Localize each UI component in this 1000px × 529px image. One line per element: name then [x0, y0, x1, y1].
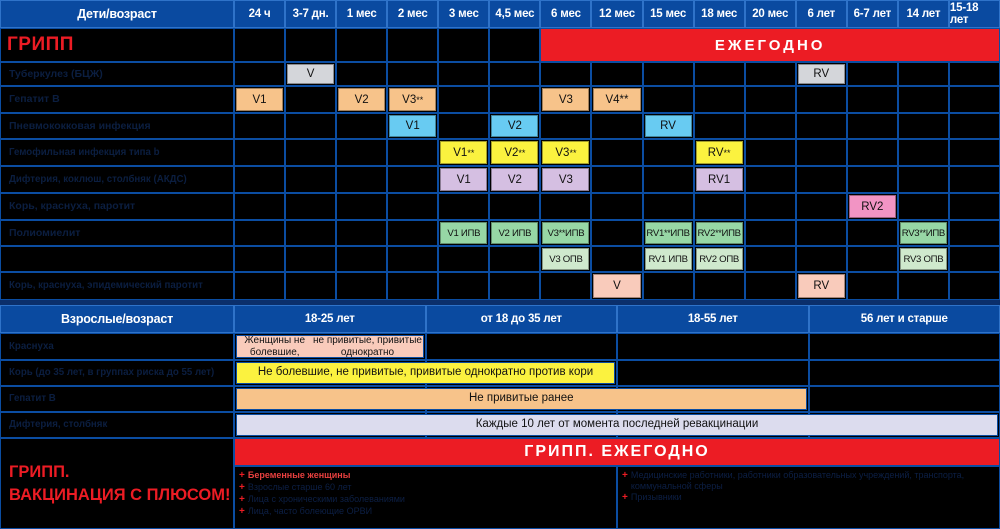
adults-cell-1-2 [617, 360, 809, 386]
vaccine-chip-3-0[interactable]: V1** [440, 141, 487, 164]
children-cell-3-1 [285, 139, 336, 166]
vaccine-chip-1-2[interactable]: V3** [389, 88, 436, 111]
flu-empty-cell-0 [234, 28, 285, 62]
children-cell-3-12 [847, 139, 898, 166]
plus-icon: + [622, 470, 628, 481]
vaccine-chip-3-3[interactable]: RV** [696, 141, 743, 164]
children-row-label-3: Гемофильная инфекция типа b [0, 139, 234, 166]
children-cell-4-7 [591, 166, 642, 193]
vaccine-chip-4-3[interactable]: RV1 [696, 168, 743, 191]
children-row-label-5: Корь, краснуха, паротит [0, 193, 234, 220]
children-cell-7-11 [796, 246, 847, 272]
children-age-header-14: 15-18 лет [949, 0, 1000, 28]
children-cell-8-6 [540, 272, 591, 300]
children-cell-0-6 [540, 62, 591, 86]
flu-empty-cell-3 [387, 28, 438, 62]
vaccine-chip-6-5[interactable]: RV3**ИПВ [900, 222, 947, 244]
adults-age-header-3: 56 лет и старше [809, 305, 1000, 333]
children-cell-4-3 [387, 166, 438, 193]
adults-cell-2-3 [809, 386, 1000, 412]
children-cell-7-4 [438, 246, 489, 272]
children-cell-4-1 [285, 166, 336, 193]
children-cell-5-9 [694, 193, 745, 220]
children-cell-8-12 [847, 272, 898, 300]
children-cell-2-2 [336, 113, 387, 139]
children-cell-0-3 [387, 62, 438, 86]
children-row-label-6: Полиомиелит [0, 220, 234, 246]
flu-note-text-0-0: Беременные женщины [248, 470, 351, 481]
vaccine-chip-1-4[interactable]: V4** [593, 88, 640, 111]
children-cell-0-13 [898, 62, 949, 86]
children-age-header-4: 3 мес [438, 0, 489, 28]
children-cell-5-13 [898, 193, 949, 220]
children-cell-6-7 [591, 220, 642, 246]
children-cell-2-6 [540, 113, 591, 139]
flu-note-text-1-1: Призывники [631, 492, 682, 503]
children-cell-0-10 [745, 62, 796, 86]
flu-note-text-0-3: Лица, часто болеющие ОРВИ [248, 506, 372, 517]
children-age-header-2: 1 мес [336, 0, 387, 28]
children-cell-0-9 [694, 62, 745, 86]
children-cell-8-2 [336, 272, 387, 300]
flu-note-1-0: +Медицинские работники, работники образо… [622, 470, 995, 491]
flu-annual-band-bottom: ГРИПП. ЕЖЕГОДНО [234, 438, 1000, 466]
children-cell-5-10 [745, 193, 796, 220]
children-cell-3-11 [796, 139, 847, 166]
flu-note-1-1: +Призывники [622, 492, 995, 503]
flu-note-0-3: +Лица, часто болеющие ОРВИ [239, 506, 612, 517]
vaccine-chip-0-1[interactable]: RV [798, 64, 845, 84]
children-cell-5-2 [336, 193, 387, 220]
flu-note-0-2: +Лица с хроническими заболеваниями [239, 494, 612, 505]
children-cell-8-9 [694, 272, 745, 300]
children-cell-6-10 [745, 220, 796, 246]
vaccine-chip-3-1[interactable]: V2** [491, 141, 538, 164]
children-cell-8-4 [438, 272, 489, 300]
children-cell-6-12 [847, 220, 898, 246]
vaccine-chip-1-1[interactable]: V2 [338, 88, 385, 111]
children-cell-2-12 [847, 113, 898, 139]
children-cell-3-0 [234, 139, 285, 166]
flu-note-0-1: +Взрослые старше 60 лет [239, 482, 612, 493]
adults-cell-0-2 [617, 333, 809, 360]
children-cell-2-14 [949, 113, 1000, 139]
children-cell-3-3 [387, 139, 438, 166]
children-cell-4-12 [847, 166, 898, 193]
children-cell-8-3 [387, 272, 438, 300]
children-cell-0-4 [438, 62, 489, 86]
children-cell-5-4 [438, 193, 489, 220]
adults-row-label-3: Дифтерия, столбняк [0, 412, 234, 438]
children-cell-0-7 [591, 62, 642, 86]
vaccine-chip-8-0[interactable]: V [593, 274, 640, 298]
plus-icon: + [239, 494, 245, 505]
children-cell-6-2 [336, 220, 387, 246]
children-row-label-2: Пневмококковая инфекция [0, 113, 234, 139]
children-row-label-8: Корь, краснуха, эпидемический паротит [0, 272, 234, 300]
vaccine-chip-6-3[interactable]: RV1**ИПВ [645, 222, 692, 244]
vaccine-chip-2-2[interactable]: RV [645, 115, 692, 137]
children-cell-1-1 [285, 86, 336, 113]
flu-note-text-1-0: Медицинские работники, работники образов… [631, 470, 995, 491]
children-cell-7-0 [234, 246, 285, 272]
children-cell-5-5 [489, 193, 540, 220]
vaccine-chip-4-2[interactable]: V3 [542, 168, 589, 191]
children-cell-4-10 [745, 166, 796, 193]
children-cell-7-12 [847, 246, 898, 272]
children-cell-1-11 [796, 86, 847, 113]
children-cell-5-0 [234, 193, 285, 220]
children-cell-3-7 [591, 139, 642, 166]
children-cell-3-8 [643, 139, 694, 166]
children-cell-4-2 [336, 166, 387, 193]
adults-cell-1-3 [809, 360, 1000, 386]
vaccine-chip-5-0[interactable]: RV2 [849, 195, 896, 218]
vaccine-chip-6-1[interactable]: V2 ИПВ [491, 222, 538, 244]
vaccine-chip-4-1[interactable]: V2 [491, 168, 538, 191]
children-cell-1-12 [847, 86, 898, 113]
children-age-header-8: 15 мес [643, 0, 694, 28]
adults-cell-0-3 [809, 333, 1000, 360]
children-cell-0-8 [643, 62, 694, 86]
vaccine-chip-1-3[interactable]: V3 [542, 88, 589, 111]
plus-icon: + [239, 470, 245, 481]
children-cell-8-8 [643, 272, 694, 300]
children-cell-8-10 [745, 272, 796, 300]
children-cell-6-14 [949, 220, 1000, 246]
flu-plus-title: ГРИПП.ВАКЦИНАЦИЯ С ПЛЮСОМ! [0, 438, 234, 529]
children-row-label-4: Дифтерия, коклюш, столбняк (АКДС) [0, 166, 234, 193]
plus-icon: + [622, 492, 628, 503]
children-cell-8-1 [285, 272, 336, 300]
children-row-label-7 [0, 246, 234, 272]
children-cell-2-11 [796, 113, 847, 139]
flu-empty-cell-5 [489, 28, 540, 62]
children-age-header-0: 24 ч [234, 0, 285, 28]
children-age-header-7: 12 мес [591, 0, 642, 28]
flu-empty-cell-4 [438, 28, 489, 62]
children-cell-8-0 [234, 272, 285, 300]
children-cell-1-9 [694, 86, 745, 113]
children-age-header-1: 3-7 дн. [285, 0, 336, 28]
children-cell-0-0 [234, 62, 285, 86]
children-cell-1-14 [949, 86, 1000, 113]
children-cell-0-2 [336, 62, 387, 86]
flu-note-text-0-1: Взрослые старше 60 лет [248, 482, 352, 493]
children-cell-6-0 [234, 220, 285, 246]
children-cell-7-14 [949, 246, 1000, 272]
vaccination-schedule-table: Дети/возраст24 ч3-7 дн.1 мес2 мес3 мес4,… [0, 0, 1000, 529]
plus-icon: + [239, 506, 245, 517]
children-cell-7-10 [745, 246, 796, 272]
children-cell-3-10 [745, 139, 796, 166]
vaccine-chip-7-1[interactable]: RV1 ИПВ [645, 248, 692, 270]
vaccine-chip-0-0[interactable]: V [287, 64, 334, 84]
vaccine-chip-7-2[interactable]: RV2 ОПВ [696, 248, 743, 270]
children-cell-2-1 [285, 113, 336, 139]
children-cell-3-14 [949, 139, 1000, 166]
adults-age-header-0: 18-25 лет [234, 305, 426, 333]
children-age-header-13: 14 лет [898, 0, 949, 28]
children-cell-6-3 [387, 220, 438, 246]
children-age-header-3: 2 мес [387, 0, 438, 28]
children-label-header: Дети/возраст [0, 0, 234, 28]
children-age-header-9: 18 мес [694, 0, 745, 28]
vaccine-chip-3-2[interactable]: V3** [542, 141, 589, 164]
vaccine-chip-7-3[interactable]: RV3 ОПВ [900, 248, 947, 270]
children-cell-5-8 [643, 193, 694, 220]
flu-empty-cell-2 [336, 28, 387, 62]
adults-note-0[interactable]: Женщины не болевшие,не привитые, привиты… [236, 335, 424, 358]
children-cell-4-14 [949, 166, 1000, 193]
children-cell-7-1 [285, 246, 336, 272]
adults-row-label-1: Корь (до 35 лет, в группах риска до 55 л… [0, 360, 234, 386]
children-cell-6-1 [285, 220, 336, 246]
vaccine-chip-8-1[interactable]: RV [798, 274, 845, 298]
children-cell-3-2 [336, 139, 387, 166]
children-cell-2-13 [898, 113, 949, 139]
children-cell-2-4 [438, 113, 489, 139]
children-cell-7-3 [387, 246, 438, 272]
children-cell-2-10 [745, 113, 796, 139]
children-age-header-10: 20 мес [745, 0, 796, 28]
children-cell-1-8 [643, 86, 694, 113]
adults-label-header: Взрослые/возраст [0, 305, 234, 333]
adults-note-3[interactable]: Каждые 10 лет от момента последней ревак… [236, 414, 998, 436]
flu-row-label: ГРИПП [0, 28, 234, 62]
children-cell-5-3 [387, 193, 438, 220]
children-cell-5-14 [949, 193, 1000, 220]
adults-cell-0-1 [426, 333, 618, 360]
children-cell-2-7 [591, 113, 642, 139]
children-cell-8-5 [489, 272, 540, 300]
children-row-label-1: Гепатит В [0, 86, 234, 113]
flu-annual-band: ЕЖЕГОДНО [540, 28, 1000, 62]
children-cell-2-0 [234, 113, 285, 139]
children-cell-5-11 [796, 193, 847, 220]
children-cell-1-10 [745, 86, 796, 113]
children-cell-5-1 [285, 193, 336, 220]
children-cell-7-7 [591, 246, 642, 272]
vaccine-chip-4-0[interactable]: V1 [440, 168, 487, 191]
children-cell-1-5 [489, 86, 540, 113]
children-cell-3-13 [898, 139, 949, 166]
children-age-header-12: 6-7 лет [847, 0, 898, 28]
flu-notes-column-0: +Беременные женщины+Взрослые старше 60 л… [234, 466, 617, 529]
children-cell-7-5 [489, 246, 540, 272]
children-cell-8-13 [898, 272, 949, 300]
children-cell-2-9 [694, 113, 745, 139]
adults-note-1[interactable]: Не болевшие, не привитые, привитые однок… [236, 362, 615, 384]
flu-plus-line1: ГРИПП. [9, 461, 233, 483]
children-cell-4-0 [234, 166, 285, 193]
flu-notes-column-1: +Медицинские работники, работники образо… [617, 466, 1000, 529]
children-cell-4-11 [796, 166, 847, 193]
vaccine-chip-6-2[interactable]: V3**ИПВ [542, 222, 589, 244]
adults-age-header-2: 18-55 лет [617, 305, 809, 333]
children-cell-1-4 [438, 86, 489, 113]
flu-note-text-0-2: Лица с хроническими заболеваниями [248, 494, 405, 505]
children-cell-5-6 [540, 193, 591, 220]
vaccine-chip-6-4[interactable]: RV2**ИПВ [696, 222, 743, 244]
vaccine-chip-6-0[interactable]: V1 ИПВ [440, 222, 487, 244]
children-cell-4-8 [643, 166, 694, 193]
children-cell-5-7 [591, 193, 642, 220]
children-cell-7-2 [336, 246, 387, 272]
children-cell-1-13 [898, 86, 949, 113]
adults-note-2[interactable]: Не привитые ранее [236, 388, 807, 410]
vaccine-chip-1-0[interactable]: V1 [236, 88, 283, 111]
children-row-label-0: Туберкулез (БЦЖ) [0, 62, 234, 86]
children-cell-0-14 [949, 62, 1000, 86]
children-age-header-5: 4,5 мес [489, 0, 540, 28]
vaccine-chip-7-0[interactable]: V3 ОПВ [542, 248, 589, 270]
children-cell-0-5 [489, 62, 540, 86]
flu-empty-cell-1 [285, 28, 336, 62]
vaccine-chip-2-1[interactable]: V2 [491, 115, 538, 137]
adults-row-label-2: Гепатит В [0, 386, 234, 412]
children-cell-6-11 [796, 220, 847, 246]
children-age-header-6: 6 мес [540, 0, 591, 28]
children-cell-4-13 [898, 166, 949, 193]
flu-plus-line2: ВАКЦИНАЦИЯ С ПЛЮСОМ! [9, 484, 233, 506]
flu-note-0-0: +Беременные женщины [239, 470, 612, 481]
children-cell-0-12 [847, 62, 898, 86]
children-cell-8-14 [949, 272, 1000, 300]
adults-age-header-1: от 18 до 35 лет [426, 305, 618, 333]
children-age-header-11: 6 лет [796, 0, 847, 28]
vaccine-chip-2-0[interactable]: V1 [389, 115, 436, 137]
plus-icon: + [239, 482, 245, 493]
adults-row-label-0: Краснуха [0, 333, 234, 360]
